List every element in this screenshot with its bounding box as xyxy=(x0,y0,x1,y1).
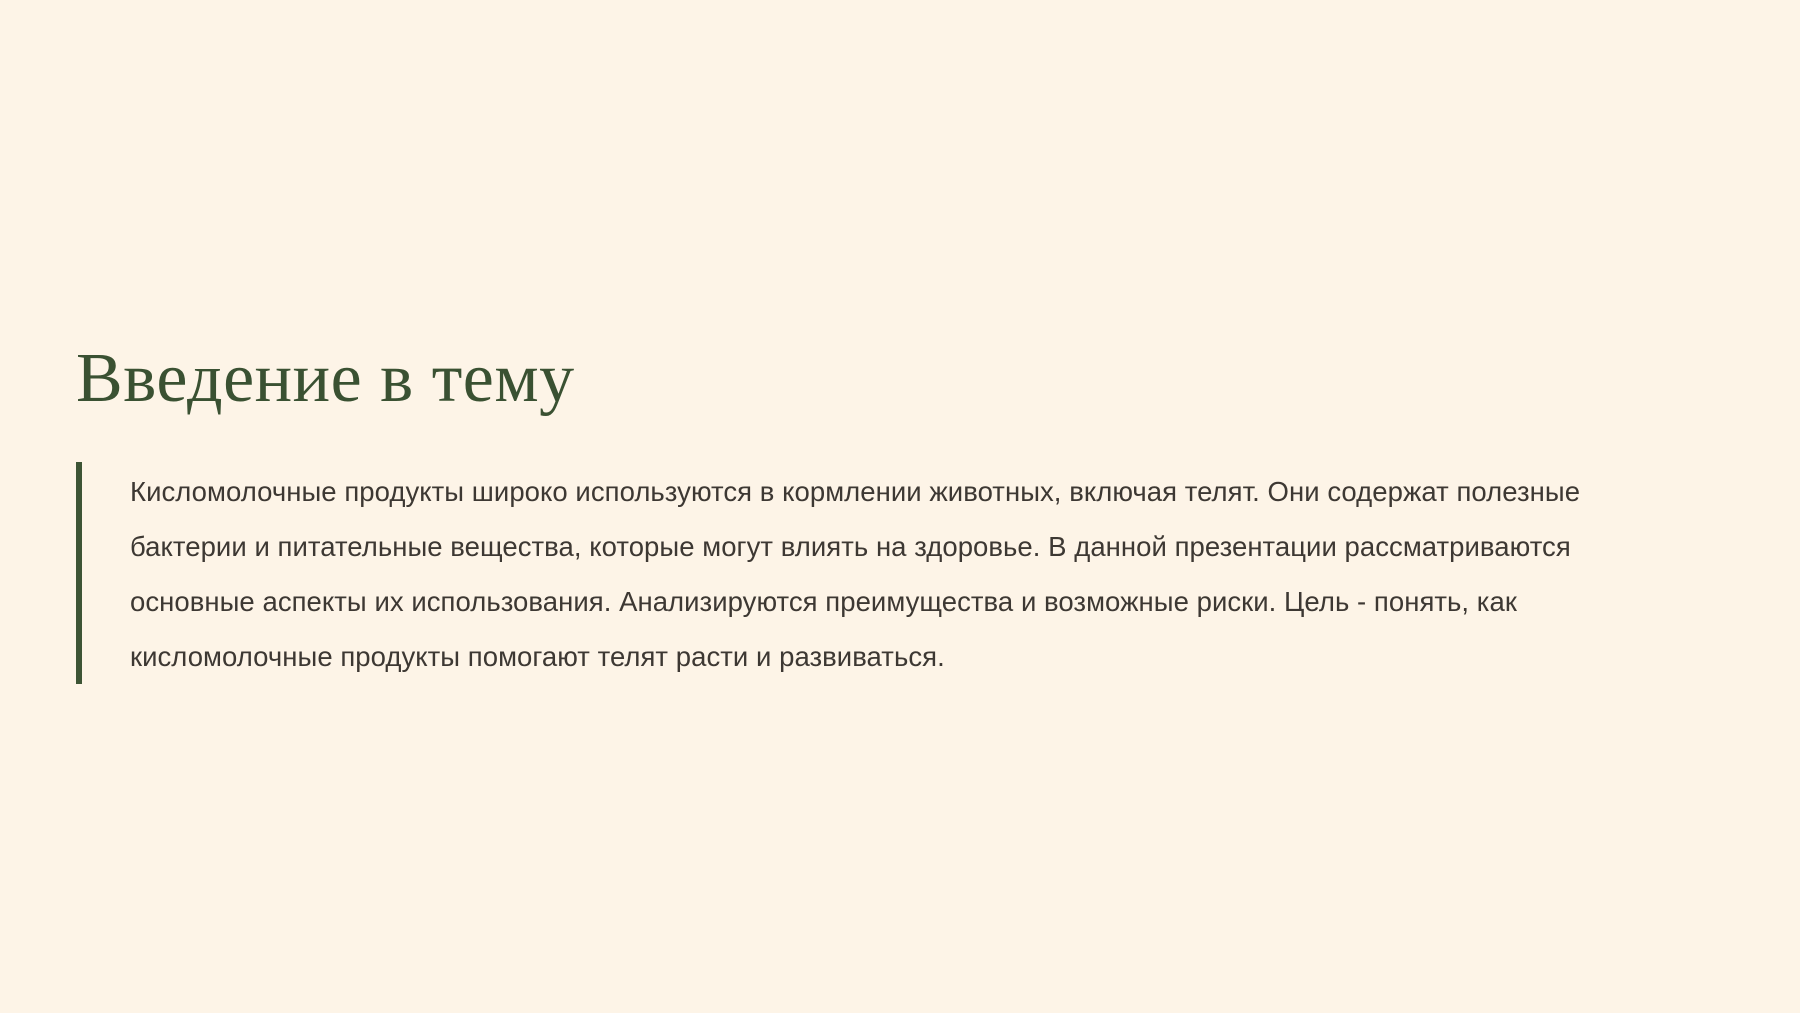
presentation-slide: Введение в тему Кисломолочные продукты ш… xyxy=(0,0,1800,1013)
body-text-container: Кисломолочные продукты широко используют… xyxy=(82,462,1666,684)
slide-title: Введение в тему xyxy=(76,344,575,414)
body-content-block: Кисломолочные продукты широко используют… xyxy=(76,462,1666,684)
slide-body-paragraph: Кисломолочные продукты широко используют… xyxy=(130,464,1660,684)
